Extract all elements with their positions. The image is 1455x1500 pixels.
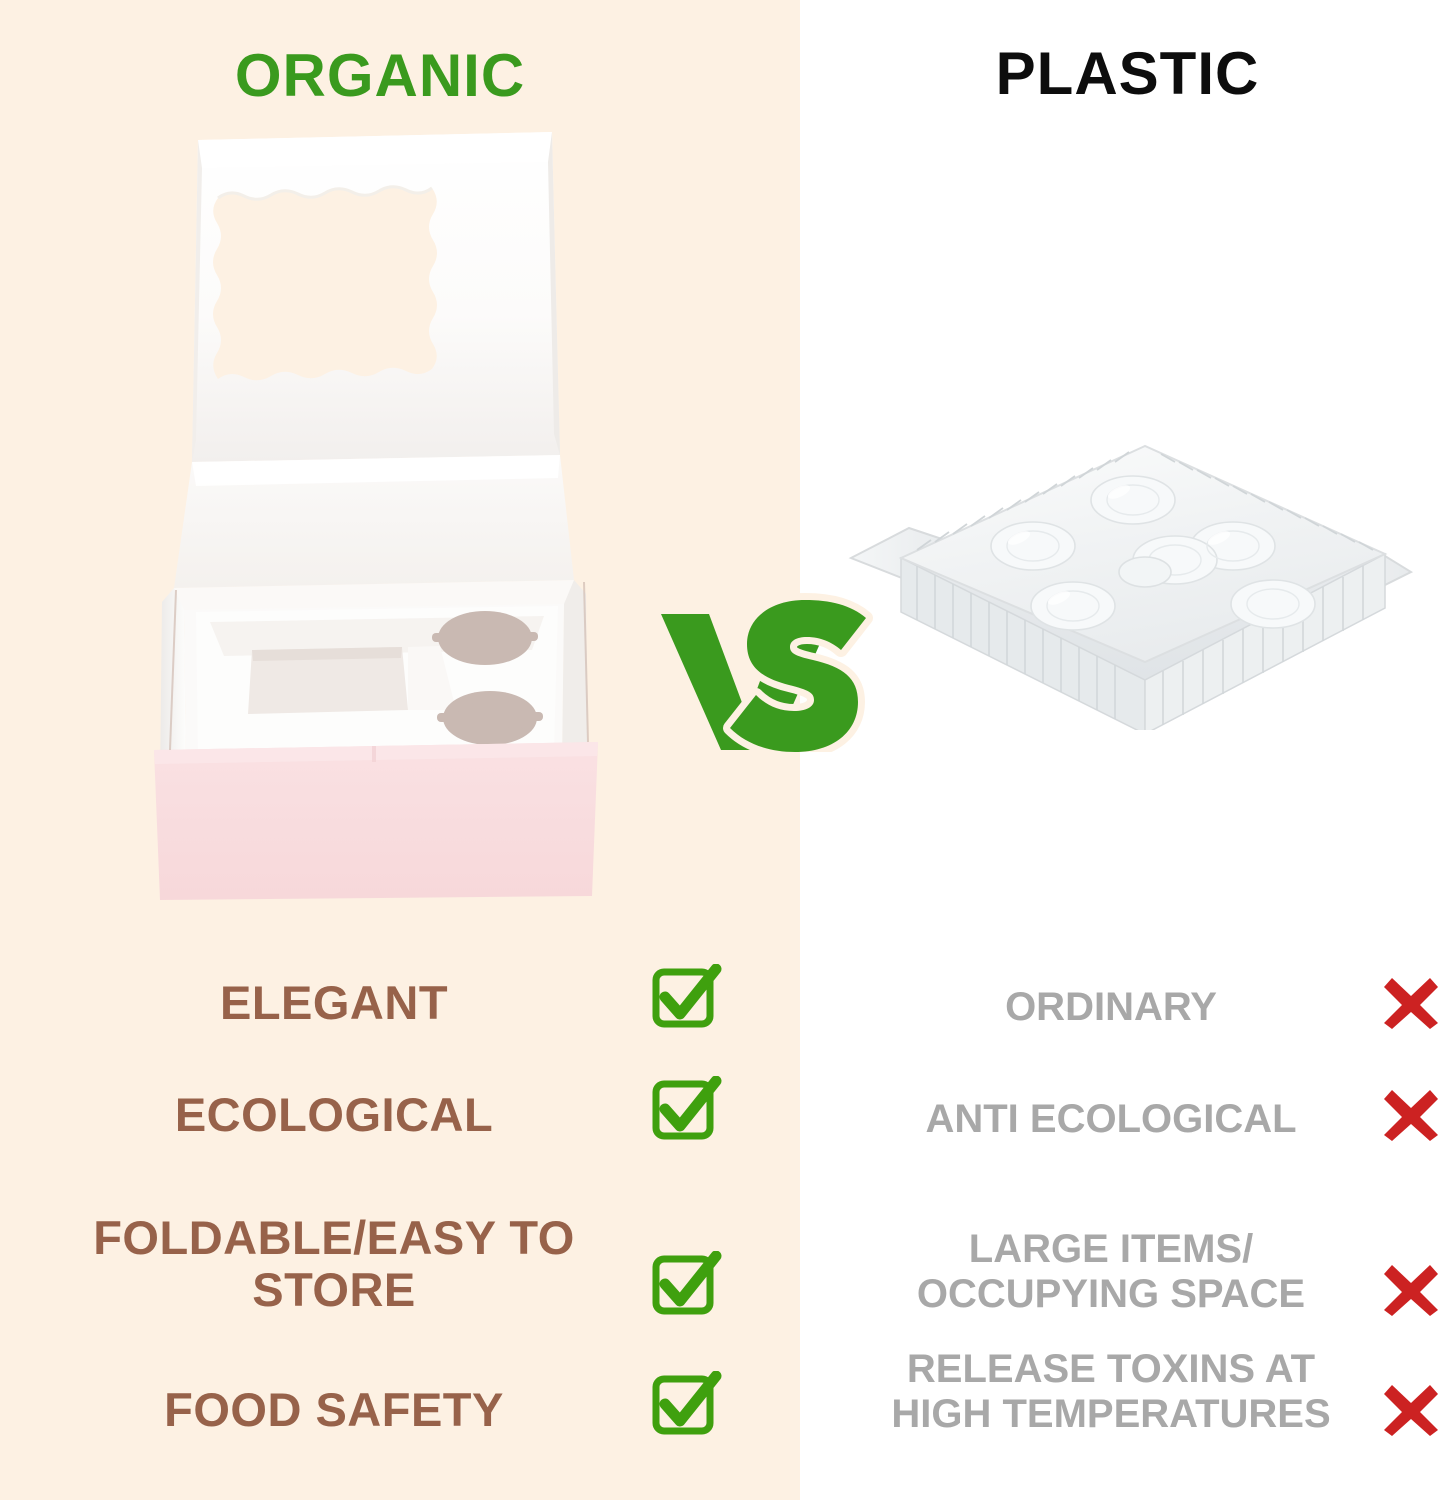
cross-icon [1372,1080,1450,1142]
organic-heading: ORGANIC [0,46,760,106]
organic-paper-box-image [140,110,610,900]
check-icon [638,1369,730,1437]
feature-label: ECOLOGICAL [30,1089,638,1142]
check-icon [638,962,730,1030]
check-icon [638,1249,730,1317]
feature-row: LARGE ITEMS/ OCCUPYING SPACE [850,1142,1450,1317]
feature-row: ECOLOGICAL [30,1030,730,1142]
cross-icon [1372,1255,1450,1317]
box-lid-panel [190,132,560,470]
feature-row: ANTI ECOLOGICAL [850,1030,1450,1142]
feature-row: ELEGANT [30,915,730,1030]
feature-label: ELEGANT [30,977,638,1030]
check-icon [638,1074,730,1142]
feature-row: RELEASE TOXINS AT HIGH TEMPERATURES [850,1317,1450,1437]
box-front-panel [154,742,598,900]
feature-row: ORDINARY [850,915,1450,1030]
comparison-infographic: ORGANIC PLASTIC [0,0,1455,1500]
cupcake-insert-tray [196,606,558,756]
plastic-clamshell-image [845,350,1415,730]
cross-icon [1372,1375,1450,1437]
plastic-feature-list: ORDINARY ANTI ECOLOGICAL LARGE ITEMS/ OC… [850,915,1450,1437]
clamshell-latch [1119,557,1171,587]
feature-label: ANTI ECOLOGICAL [850,1097,1372,1142]
cross-icon [1372,968,1450,1030]
feature-label: FOOD SAFETY [30,1384,638,1437]
organic-feature-list: ELEGANT ECOLOGICAL FOLDABLE/EASY TO STOR… [30,915,730,1437]
versus-mark [655,592,875,752]
feature-label: ORDINARY [850,985,1372,1030]
feature-row: FOLDABLE/EASY TO STORE [30,1142,730,1317]
feature-row: FOOD SAFETY [30,1317,730,1437]
box-inner-flap [174,455,574,616]
feature-label: FOLDABLE/EASY TO STORE [30,1212,638,1317]
feature-label: LARGE ITEMS/ OCCUPYING SPACE [850,1227,1372,1317]
feature-label: RELEASE TOXINS AT HIGH TEMPERATURES [850,1347,1372,1437]
plastic-heading: PLASTIC [800,44,1455,104]
